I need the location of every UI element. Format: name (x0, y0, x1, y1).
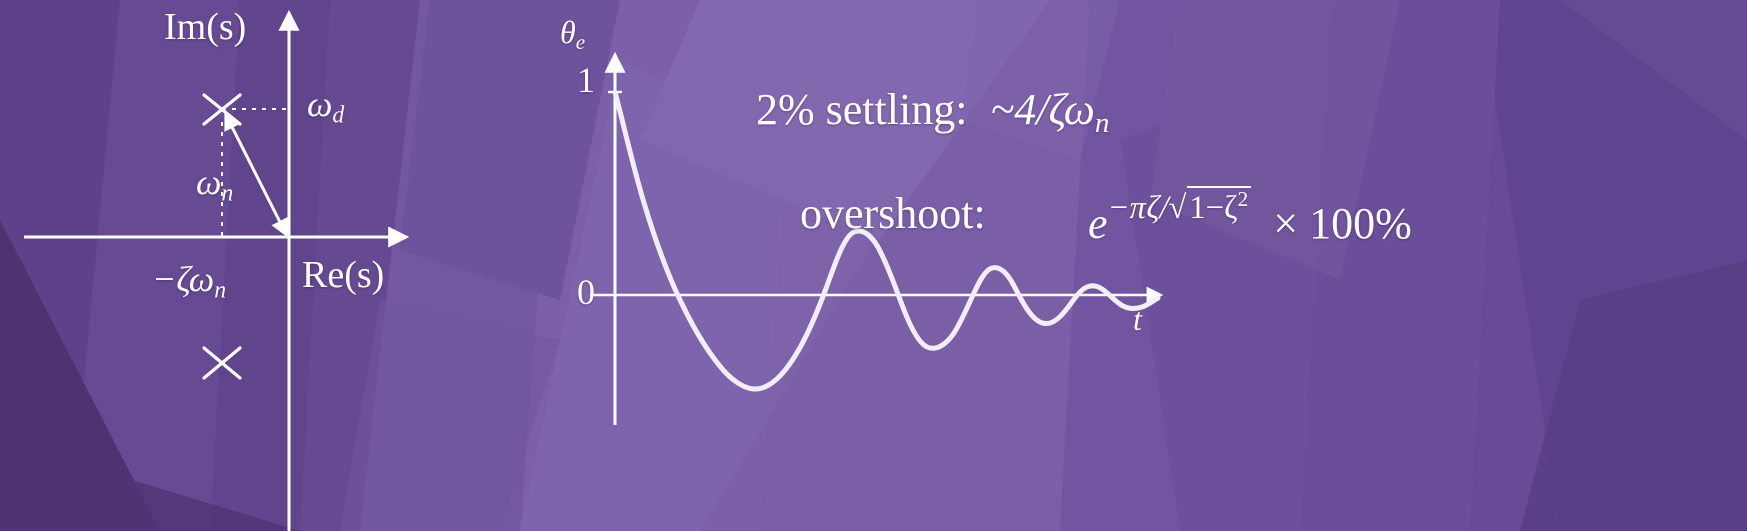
imaginary-axis-label: Im(s) (164, 8, 246, 46)
real-axis-label: Re(s) (302, 256, 384, 294)
response-x-axis-label: t (1133, 303, 1142, 335)
overshoot-label: overshoot: (800, 192, 986, 236)
omega-d-subscript: d (332, 103, 344, 129)
sigma-label: −ζωn (152, 261, 226, 303)
overshoot-radicand: 1−ζ (1189, 190, 1237, 226)
omega-n-label: ωn (196, 164, 233, 206)
omega-n-subscript: n (221, 181, 233, 207)
y-tick-label-one: 1 (577, 62, 595, 98)
sqrt-icon: √1−ζ2 (1169, 186, 1252, 224)
settling-label: 2% settling: (756, 85, 967, 134)
omega-n-arrow (226, 115, 286, 234)
overshoot-multiplier: × 100% (1273, 199, 1411, 248)
overshoot-exponent: −πζ/√1−ζ2 (1108, 190, 1252, 226)
slide-canvas: Im(s) Re(s) ωd ωn −ζωn (0, 0, 1747, 531)
overshoot-exponent-numerator: −πζ/ (1108, 190, 1169, 226)
settling-value: ~4/ζω (990, 85, 1094, 134)
pole-marker-lower (204, 348, 240, 378)
response-y-axis-label: θe (560, 16, 585, 53)
settling-time-formula: 2% settling: ~4/ζωn (756, 88, 1109, 138)
overshoot-base: e (1088, 199, 1108, 248)
settling-value-subscript: n (1095, 107, 1110, 139)
s-plane-diagram (0, 0, 460, 531)
sigma-subscript: n (214, 278, 226, 304)
overshoot-radicand-exponent: 2 (1238, 187, 1249, 211)
theta-subscript: e (576, 30, 585, 54)
omega-d-label: ωd (307, 86, 344, 128)
y-tick-label-zero: 0 (577, 274, 595, 310)
overshoot-formula: e−πζ/√1−ζ2× 100% (1088, 186, 1412, 246)
